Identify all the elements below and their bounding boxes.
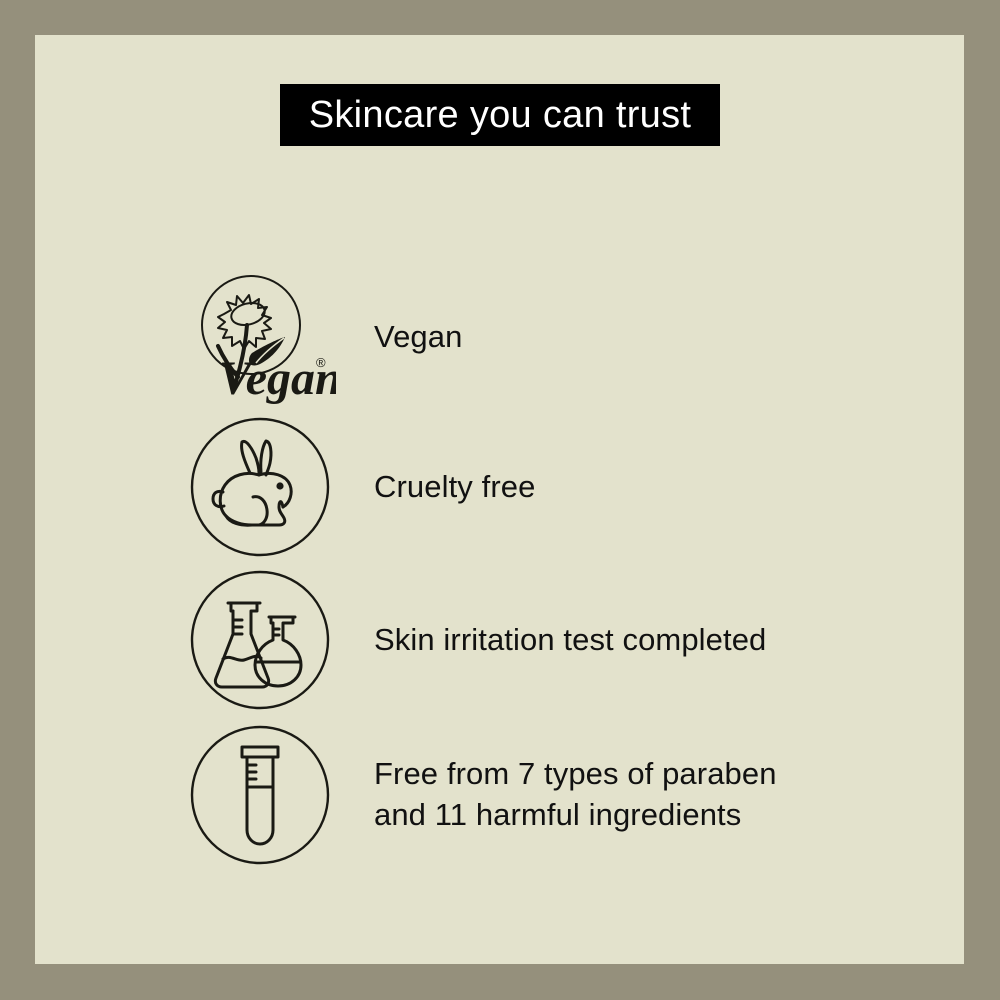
feature-label-skin-irritation: Skin irritation test completed <box>374 620 766 661</box>
feature-label-paraben-free: Free from 7 types of paraben and 11 harm… <box>374 754 777 836</box>
vegan-society-trademark-icon: Vegan ® <box>190 267 336 407</box>
feature-item-paraben-free: Free from 7 types of paraben and 11 harm… <box>190 725 777 865</box>
infographic-card: Skincare you can trust <box>35 35 964 964</box>
page-title-bar: Skincare you can trust <box>280 84 720 146</box>
registered-mark: ® <box>316 355 326 370</box>
feature-item-cruelty-free: Cruelty free <box>190 417 535 557</box>
rabbit-icon <box>190 417 336 557</box>
feature-item-skin-irritation: Skin irritation test completed <box>190 570 766 710</box>
feature-label-vegan: Vegan <box>374 317 462 358</box>
feature-item-vegan: Vegan ® Vegan <box>190 267 462 407</box>
feature-label-cruelty-free: Cruelty free <box>374 467 535 508</box>
test-tube-icon <box>190 725 336 865</box>
page-title: Skincare you can trust <box>309 96 692 134</box>
lab-flasks-icon <box>190 570 336 710</box>
